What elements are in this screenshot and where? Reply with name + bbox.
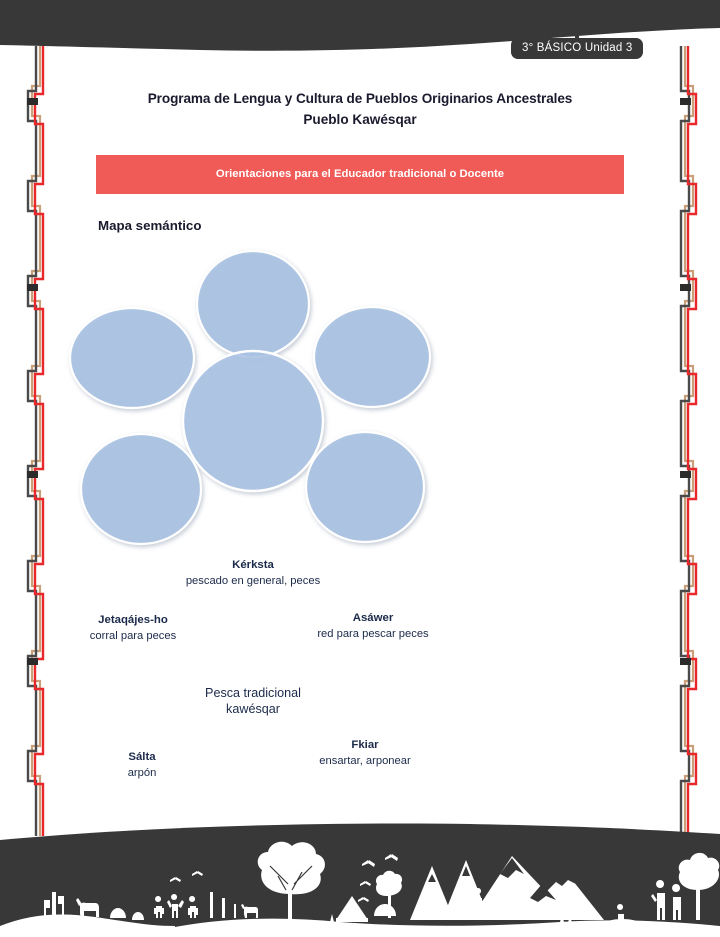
node-asawer: Asáwer red para pescar peces	[303, 612, 443, 642]
node-kerksta-gloss: pescado en general, peces	[182, 575, 324, 589]
node-asawer-gloss: red para pescar peces	[303, 628, 443, 642]
right-decorative-border	[655, 46, 715, 836]
page-title: Programa de Lengua y Cultura de Pueblos …	[60, 92, 660, 106]
bubble-kerksta	[197, 251, 309, 357]
bubble-jetaqajes	[70, 308, 194, 408]
unit-badge: 3° BÁSICO Unidad 3	[511, 38, 643, 59]
orientation-banner: Orientaciones para el Educador tradicion…	[96, 155, 624, 194]
node-center: Pesca tradicional kawésqar	[184, 686, 322, 717]
semantic-map-diagram: Kérksta pescado en general, peces Asáwer…	[60, 239, 660, 569]
bubble-fkiar	[306, 432, 424, 542]
node-fkiar-gloss: ensartar, arponear	[300, 755, 430, 769]
node-salta-term: Sálta	[78, 751, 206, 765]
node-jetaqajes-term: Jetaqájes-ho	[65, 614, 201, 628]
document-body: Programa de Lengua y Cultura de Pueblos …	[60, 92, 660, 569]
bubble-center	[183, 351, 323, 491]
bottom-decorative-band	[0, 822, 720, 932]
node-jetaqajes: Jetaqájes-ho corral para peces	[65, 614, 201, 644]
node-salta-gloss: arpón	[78, 767, 206, 781]
document-page: 3° BÁSICO Unidad 3 Programa de Lengua y …	[0, 0, 720, 932]
node-fkiar-term: Fkiar	[300, 739, 430, 753]
node-asawer-term: Asáwer	[303, 612, 443, 626]
page-subtitle: Pueblo Kawésqar	[60, 112, 660, 127]
section-heading: Mapa semántico	[98, 218, 660, 233]
node-center-term: Pesca tradicional kawésqar	[184, 686, 322, 717]
bubble-salta	[81, 434, 201, 544]
node-fkiar: Fkiar ensartar, arponear	[300, 739, 430, 769]
bubble-asawer	[314, 307, 430, 407]
node-salta: Sálta arpón	[78, 751, 206, 781]
node-jetaqajes-gloss: corral para peces	[65, 630, 201, 644]
